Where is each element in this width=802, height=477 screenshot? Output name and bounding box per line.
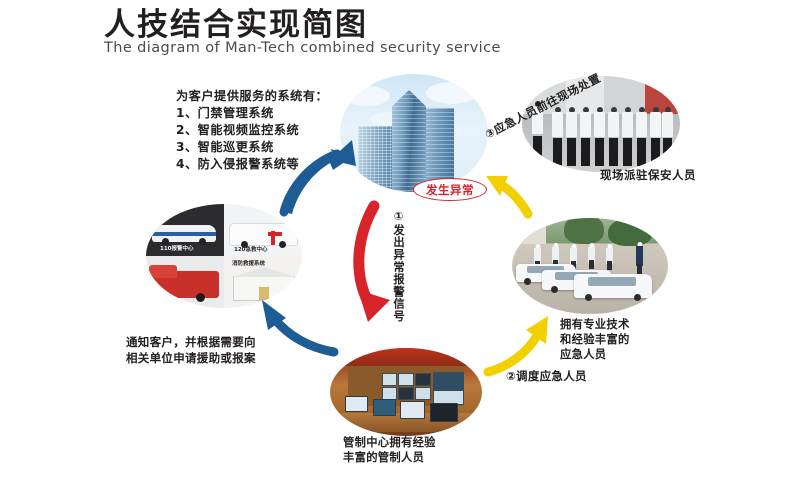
caption-police: 110报警中心	[160, 244, 193, 252]
arrow-red-down	[358, 206, 390, 322]
ambulance-photo: 120急救中心	[224, 204, 302, 256]
security-guards-photo	[522, 76, 680, 172]
node-customer-site	[340, 74, 488, 192]
control-room-photo	[330, 348, 482, 436]
relief-shelter-photo: 消防救援系统	[224, 256, 302, 308]
node-emergency-services: 110报警中心 120急救中心 消防救援系统	[146, 204, 302, 308]
systems-list: 为客户提供服务的系统有： 1、门禁管理系统 2、智能视频监控系统 3、智能巡更系…	[176, 88, 328, 173]
label-step1: ①发出异常报警信号	[392, 210, 405, 322]
patrol-cars-photo	[512, 218, 668, 314]
emergency-services-collage: 110报警中心 120急救中心 消防救援系统	[146, 204, 302, 308]
police-car-photo: 110报警中心	[146, 204, 224, 256]
label-notify-customer: 通知客户，并根据需要向 相关单位申请援助或报案	[126, 334, 256, 366]
page-title: 人技结合实现简图	[104, 8, 368, 44]
node-onsite-guards	[522, 76, 680, 172]
label-step2: ②调度应急人员	[506, 368, 587, 384]
caption-fire: 消防救援系统	[232, 259, 265, 267]
status-badge-abnormal: 发生异常	[413, 178, 487, 201]
arrow-yellow-up-right	[488, 316, 548, 372]
fire-truck-photo	[146, 256, 224, 308]
label-onsite-guards: 现场派驻保安人员	[600, 167, 696, 183]
arrow-yellow-up	[486, 176, 528, 214]
caption-ambulance: 120急救中心	[234, 245, 267, 253]
label-control-center: 管制中心拥有经验 丰富的管制人员	[343, 436, 436, 465]
node-control-center	[330, 348, 482, 436]
node-response-team	[512, 218, 668, 314]
label-response-team: 拥有专业技术 和经验丰富的 应急人员	[560, 317, 630, 362]
page-subtitle: The diagram of Man-Tech combined securit…	[104, 40, 501, 56]
skyscraper-photo	[340, 74, 488, 192]
diagram-canvas: 人技结合实现简图 The diagram of Man-Tech combine…	[0, 0, 802, 477]
